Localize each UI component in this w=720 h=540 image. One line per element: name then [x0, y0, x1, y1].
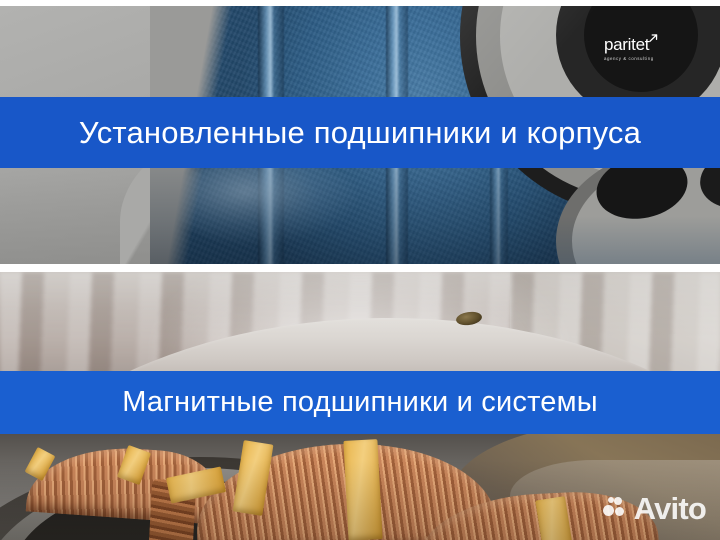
paritet-logo-word: paritet: [604, 36, 649, 53]
banner-installed-bearings-label: Установленные подшипники и корпуса: [79, 115, 641, 151]
banner-magnetic-bearings: Магнитные подшипники и системы: [0, 371, 720, 434]
banner-installed-bearings: Установленные подшипники и корпуса: [0, 97, 720, 168]
avito-watermark-label: Avito: [634, 493, 706, 524]
pulley-wheel-shadow: [556, 216, 720, 264]
paritet-logo: paritet agency & consulting: [604, 36, 696, 61]
avito-dots-icon: [603, 496, 629, 522]
insulation-tape: [343, 439, 382, 540]
banner-magnetic-bearings-label: Магнитные подшипники и системы: [122, 386, 598, 419]
promo-image: paritet agency & consulting Установленны…: [0, 0, 720, 540]
paritet-logo-tagline: agency & consulting: [604, 57, 696, 61]
arrow-up-right-icon: [648, 33, 659, 44]
avito-watermark: Avito: [603, 493, 706, 524]
